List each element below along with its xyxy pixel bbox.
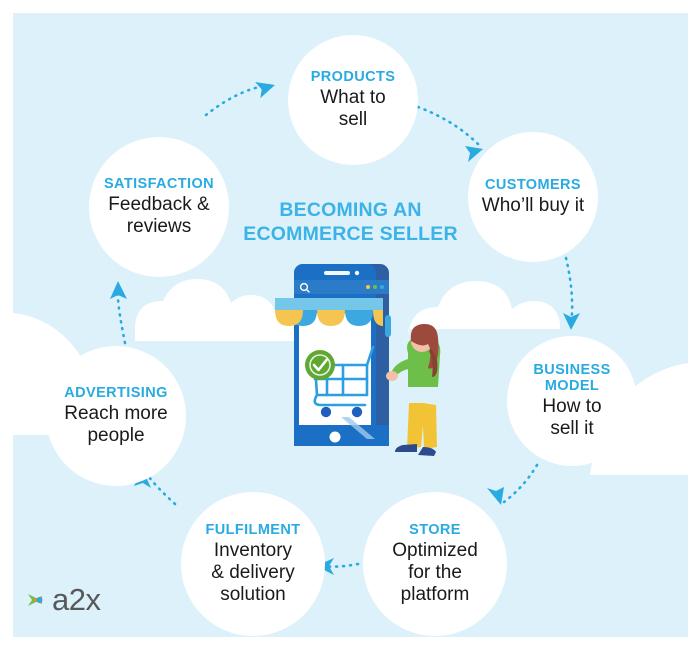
connector-fulfilment-to-advertising (146, 473, 175, 504)
cart-wheel-left-icon (321, 407, 331, 417)
node-advertising-desc-line1: Reach more (64, 403, 168, 425)
node-fulfilment-desc-line2: & delivery (211, 562, 294, 584)
node-satisfaction-title: SATISFACTION (104, 176, 214, 192)
a2x-arrow-mark-icon (25, 588, 49, 612)
node-business-model-desc: How to sell it (542, 396, 601, 440)
person-hand (386, 371, 398, 381)
node-customers-desc: Who’ll buy it (482, 195, 584, 217)
node-customers-desc-line1: Who’ll buy it (482, 195, 584, 217)
browser-dot-blue-icon (380, 285, 384, 289)
node-satisfaction-desc-line2: reviews (108, 216, 209, 238)
infographic-panel: PRODUCTS What to sell CUSTOMERS Who’ll b… (13, 13, 688, 637)
phone-home-button (330, 432, 341, 443)
browser-dot-yellow-icon (366, 285, 370, 289)
shopper-person-illustration (386, 324, 440, 456)
shoe-back (395, 444, 417, 452)
node-fulfilment-desc-line3: solution (211, 584, 294, 606)
shoe-front (418, 447, 436, 456)
node-products[interactable]: PRODUCTS What to sell (288, 35, 418, 165)
node-advertising[interactable]: ADVERTISING Reach more people (46, 346, 186, 486)
node-fulfilment-desc: Inventory & delivery solution (211, 540, 294, 606)
node-fulfilment-title: FULFILMENT (205, 522, 300, 538)
node-store-desc: Optimized for the platform (392, 540, 478, 606)
node-products-desc: What to sell (320, 87, 385, 131)
check-badge-icon (305, 350, 335, 380)
a2x-logo-text: a2x (52, 584, 100, 615)
browser-dot-green-icon (373, 285, 377, 289)
infographic-root: PRODUCTS What to sell CUSTOMERS Who’ll b… (0, 0, 700, 649)
node-customers-title: CUSTOMERS (485, 177, 581, 193)
node-products-desc-line1: What to (320, 87, 385, 109)
a2x-logo[interactable]: a2x (25, 584, 100, 615)
node-business-model[interactable]: BUSINESS MODEL How to sell it (507, 336, 637, 466)
node-business-model-desc-line1: How to (542, 396, 601, 418)
cart-wheel-right-icon (352, 407, 362, 417)
arrowhead-satisfaction (110, 281, 127, 299)
arrowhead-store (487, 487, 504, 505)
node-satisfaction[interactable]: SATISFACTION Feedback & reviews (89, 137, 229, 277)
node-fulfilment-desc-line1: Inventory (211, 540, 294, 562)
node-store-desc-line3: platform (392, 584, 478, 606)
node-customers[interactable]: CUSTOMERS Who’ll buy it (468, 132, 598, 262)
center-title-line2: ECOMMERCE SELLER (228, 222, 473, 246)
node-store-desc-line2: for the (392, 562, 478, 584)
node-store[interactable]: STORE Optimized for the platform (363, 492, 507, 636)
node-business-model-desc-line2: sell it (542, 418, 601, 440)
node-fulfilment[interactable]: FULFILMENT Inventory & delivery solution (181, 492, 325, 636)
node-business-model-title: BUSINESS MODEL (533, 362, 610, 394)
phone-side-button (385, 315, 391, 337)
node-products-desc-line2: sell (320, 109, 385, 131)
connector-business-to-store (504, 465, 537, 502)
arrowhead-products (255, 76, 277, 98)
center-title: BECOMING AN ECOMMERCE SELLER (228, 198, 473, 247)
center-title-line1: BECOMING AN (228, 198, 473, 222)
node-advertising-desc: Reach more people (64, 403, 168, 447)
phone-camera (355, 271, 359, 275)
ecommerce-illustration (275, 264, 440, 456)
node-products-title: PRODUCTS (311, 69, 396, 85)
node-advertising-title: ADVERTISING (64, 385, 168, 401)
storefront-awning (275, 298, 383, 326)
node-advertising-desc-line2: people (64, 425, 168, 447)
phone-speaker (324, 271, 350, 275)
node-satisfaction-desc-line1: Feedback & (108, 194, 209, 216)
connector-products-to-customers (418, 107, 479, 145)
node-business-model-title-line2: MODEL (533, 378, 610, 394)
node-store-title: STORE (409, 522, 461, 538)
node-store-desc-line1: Optimized (392, 540, 478, 562)
node-business-model-title-line1: BUSINESS (533, 362, 610, 378)
connector-customers-to-business (566, 258, 572, 325)
node-satisfaction-desc: Feedback & reviews (108, 194, 209, 238)
phone-bottom-bar (294, 425, 389, 446)
